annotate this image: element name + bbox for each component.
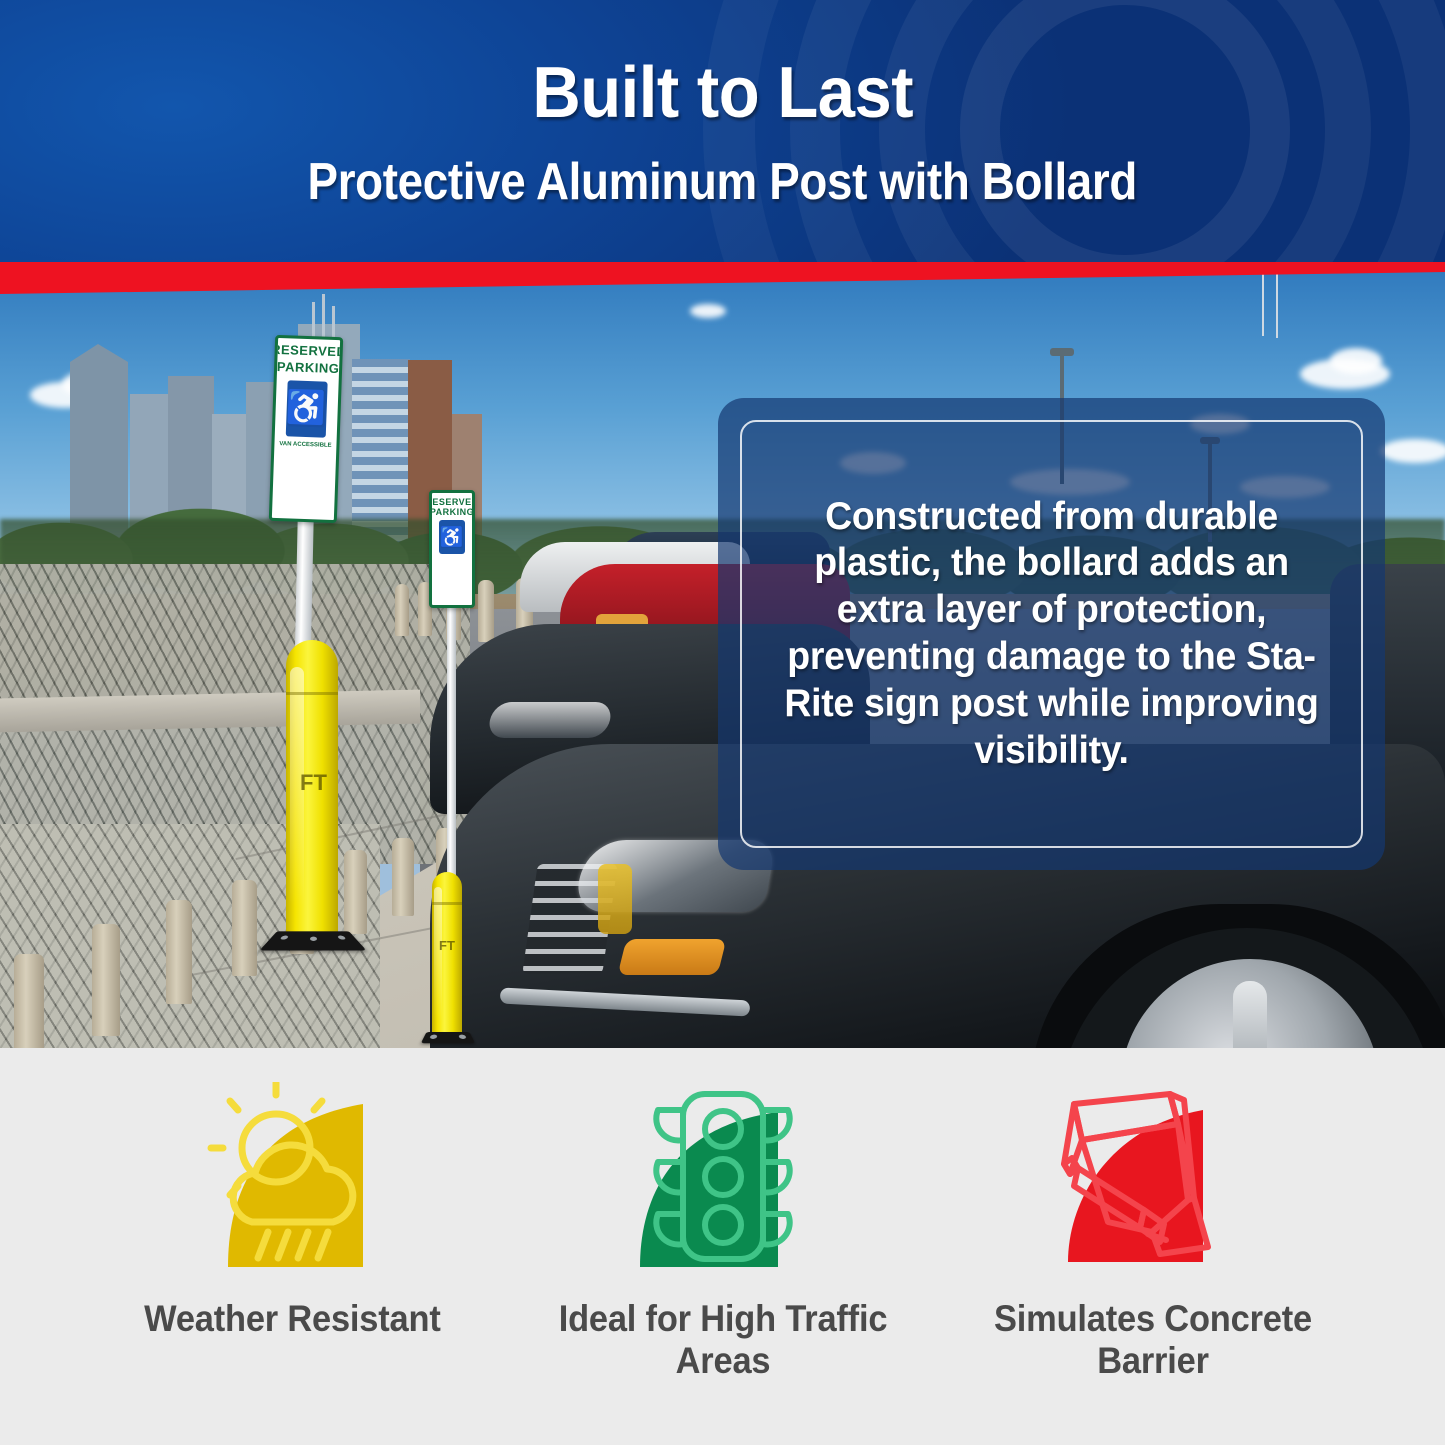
sun-cloud-rain-icon	[188, 1082, 398, 1272]
feature-label: Weather Resistant	[144, 1298, 440, 1340]
callout-text: Constructed from durable plastic, the bo…	[766, 494, 1337, 775]
feature-high-traffic: Ideal for High Traffic Areas	[508, 1082, 938, 1382]
traffic-light-icon	[618, 1082, 828, 1272]
yellow-bollard: FT	[432, 872, 462, 1040]
reserved-parking-sign: RESERVED PARKING ♿ VAN ACCESSIBLE	[269, 335, 343, 523]
concrete-barrier-icon	[1048, 1082, 1258, 1272]
infographic-page: Built to Last Protective Aluminum Post w…	[0, 0, 1445, 1445]
feature-concrete-barrier: Simulates Concrete Barrier	[938, 1082, 1368, 1382]
page-title: Built to Last	[532, 57, 913, 130]
callout-panel: Constructed from durable plastic, the bo…	[718, 398, 1385, 870]
callout-border: Constructed from durable plastic, the bo…	[740, 420, 1363, 848]
feature-weather-resistant: Weather Resistant	[78, 1082, 508, 1340]
yellow-bollard: FT	[286, 640, 338, 940]
accessible-icon: ♿	[439, 520, 465, 554]
bollard-base-plate	[421, 1032, 475, 1043]
bollard-base-plate	[259, 931, 366, 950]
page-subtitle: Protective Aluminum Post with Bollard	[308, 156, 1137, 209]
product-photo: RESERVED PARKING ♿ FT RESERVED PARKING ♿…	[0, 264, 1445, 1050]
reserved-parking-sign: RESERVED PARKING ♿	[429, 490, 475, 608]
feature-label: Ideal for High Traffic Areas	[523, 1298, 923, 1382]
header-banner: Built to Last Protective Aluminum Post w…	[0, 0, 1445, 266]
accessible-icon: ♿	[286, 380, 328, 437]
feature-label: Simulates Concrete Barrier	[953, 1298, 1353, 1382]
feature-row: Weather Resistant	[0, 1048, 1445, 1445]
